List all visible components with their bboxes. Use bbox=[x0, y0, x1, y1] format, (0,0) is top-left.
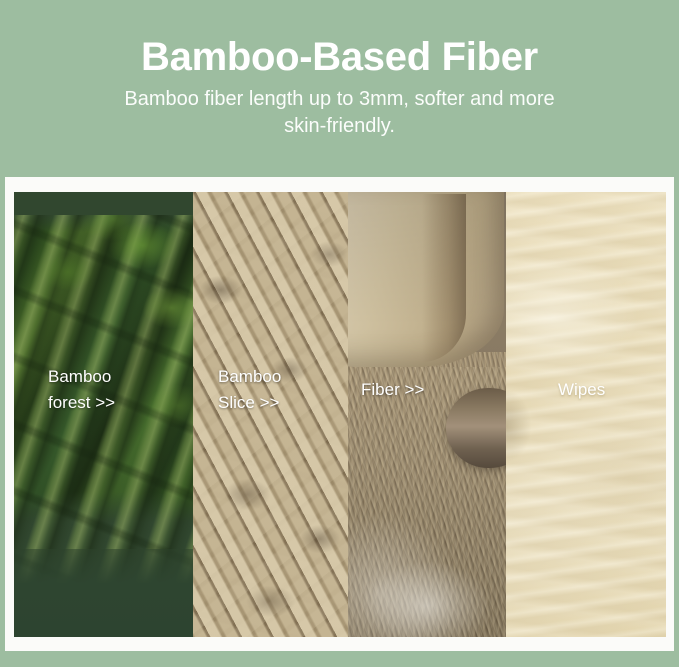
panel-label-wipes: Wipes bbox=[558, 377, 605, 403]
panel-label-fiber: Fiber >> bbox=[361, 377, 424, 403]
panel-label-bamboo-slice: Bamboo Slice >> bbox=[218, 364, 281, 416]
panel-bamboo-forest[interactable]: Bamboo forest >> bbox=[14, 192, 193, 637]
page-title: Bamboo-Based Fiber bbox=[0, 34, 679, 80]
page-subtitle: Bamboo fiber length up to 3mm, softer an… bbox=[105, 86, 575, 140]
panel-wipes[interactable]: Wipes bbox=[506, 192, 666, 637]
image-card: Bamboo forest >> Bamboo Slice >> bbox=[5, 177, 674, 651]
panel-bamboo-slice[interactable]: Bamboo Slice >> bbox=[193, 192, 348, 637]
header-section: Bamboo-Based Fiber Bamboo fiber length u… bbox=[0, 0, 679, 177]
forest-top-band bbox=[14, 192, 193, 215]
process-panel-strip: Bamboo forest >> Bamboo Slice >> bbox=[14, 192, 666, 637]
forest-bottom-band bbox=[14, 549, 193, 637]
fiber-mist-highlight bbox=[358, 507, 506, 637]
panel-fiber[interactable]: Fiber >> bbox=[348, 192, 506, 637]
panel-label-bamboo-forest: Bamboo forest >> bbox=[48, 364, 115, 416]
wipes-roll-shadow bbox=[506, 378, 540, 474]
bamboo-fiber-infographic: Bamboo-Based Fiber Bamboo fiber length u… bbox=[0, 0, 679, 667]
